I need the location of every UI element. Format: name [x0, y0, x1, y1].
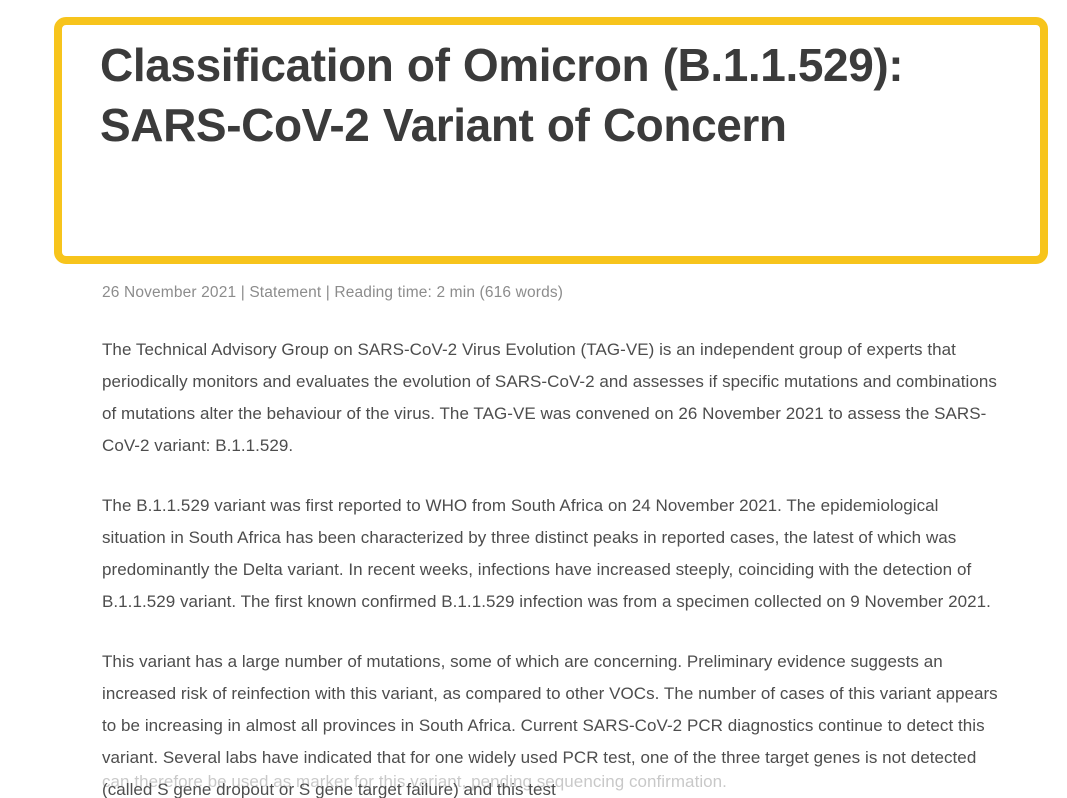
clipped-bottom-line: can therefore be used as marker for this…: [102, 766, 1002, 798]
paragraph: The B.1.1.529 variant was first reported…: [102, 490, 1002, 618]
title-container: Classification of Omicron (B.1.1.529): S…: [100, 36, 1010, 156]
article-body: The Technical Advisory Group on SARS-CoV…: [102, 334, 1002, 798]
paragraph: The Technical Advisory Group on SARS-CoV…: [102, 334, 1002, 462]
page-title: Classification of Omicron (B.1.1.529): S…: [100, 36, 1010, 156]
article-page: Classification of Omicron (B.1.1.529): S…: [0, 0, 1067, 798]
article-meta: 26 November 2021 | Statement | Reading t…: [102, 282, 563, 304]
